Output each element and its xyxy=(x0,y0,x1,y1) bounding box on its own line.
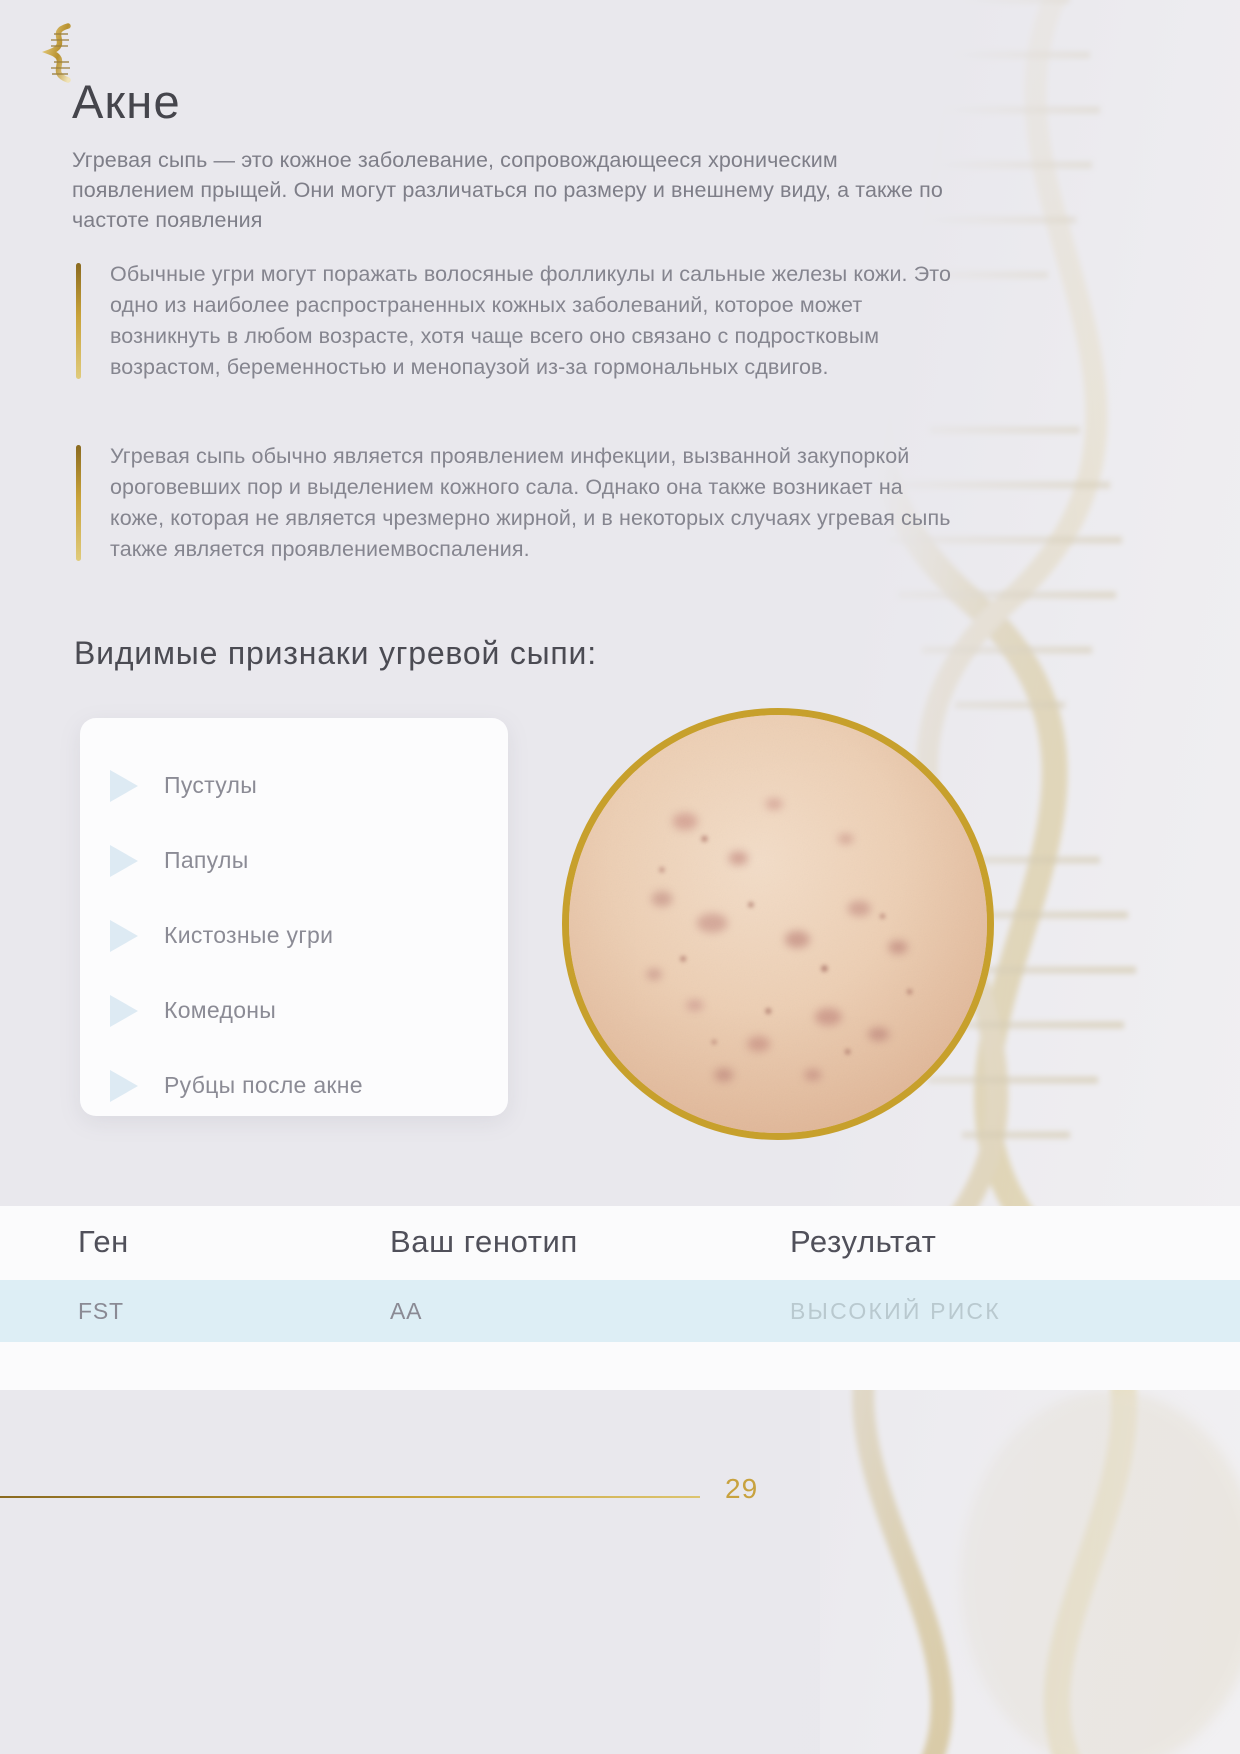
table-row: FST AA ВЫСОКИЙ РИСК xyxy=(0,1278,1240,1344)
cell-genotype: AA xyxy=(390,1298,790,1325)
page-content: Акне Угревая сыпь — это кожное заболеван… xyxy=(0,0,1240,1754)
column-header-genotype: Ваш генотип xyxy=(390,1224,790,1260)
list-item: Папулы xyxy=(80,823,508,898)
triangle-right-icon xyxy=(110,845,138,877)
sign-label: Комедоны xyxy=(164,997,276,1024)
quote-block-1: Обычные угри могут поражать волосяные фо… xyxy=(76,259,956,383)
results-table: Ген Ваш генотип Результат FST AA ВЫСОКИЙ… xyxy=(0,1206,1240,1390)
list-item: Комедоны xyxy=(80,973,508,1048)
sign-label: Пустулы xyxy=(164,772,257,799)
intro-paragraph: Угревая сыпь — это кожное заболевание, с… xyxy=(72,145,962,235)
table-header-row: Ген Ваш генотип Результат xyxy=(0,1206,1240,1278)
sign-label: Рубцы после акне xyxy=(164,1072,363,1099)
quote-text-2: Угревая сыпь обычно является проявлением… xyxy=(110,444,951,561)
column-header-result: Результат xyxy=(790,1224,1200,1260)
triangle-right-icon xyxy=(110,920,138,952)
page-title: Акне xyxy=(72,74,181,129)
signs-section-heading: Видимые признаки угревой сыпи: xyxy=(74,635,597,672)
sign-label: Кистозные угри xyxy=(164,922,333,949)
list-item: Кистозные угри xyxy=(80,898,508,973)
list-item: Рубцы после акне xyxy=(80,1048,508,1123)
status-badge: ВЫСОКИЙ РИСК xyxy=(790,1298,1200,1325)
column-header-gene: Ген xyxy=(78,1224,390,1260)
quote-text-1: Обычные угри могут поражать волосяные фо… xyxy=(110,262,951,379)
sign-label: Папулы xyxy=(164,847,249,874)
triangle-right-icon xyxy=(110,770,138,802)
visible-signs-card: Пустулы Папулы Кистозные угри Комедоны Р… xyxy=(80,718,508,1116)
triangle-right-icon xyxy=(110,995,138,1027)
quote-block-2: Угревая сыпь обычно является проявлением… xyxy=(76,441,956,565)
page-number: 29 xyxy=(725,1473,758,1505)
triangle-right-icon xyxy=(110,1070,138,1102)
footer-divider xyxy=(0,1496,700,1498)
table-bottom-spacer xyxy=(0,1344,1240,1390)
acne-skin-closeup-photo xyxy=(562,708,994,1140)
list-item: Пустулы xyxy=(80,748,508,823)
cell-gene: FST xyxy=(78,1298,390,1325)
